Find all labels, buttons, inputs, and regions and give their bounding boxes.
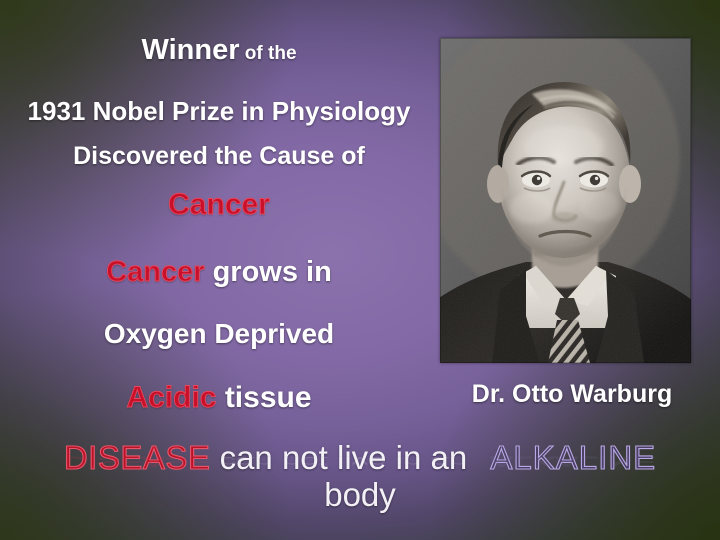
- photo-caption: Dr. Otto Warburg: [438, 380, 706, 409]
- line-cancer-grows: Cancer grows in: [0, 258, 438, 287]
- winner-word: Winner: [141, 34, 239, 66]
- cancer-word-2: Cancer: [106, 256, 204, 288]
- can-not-live-text: can not live in an: [210, 439, 476, 476]
- line-cancer-heading: Cancer: [0, 190, 438, 220]
- bottom-statement: DISEASE can not live in an ALKALINE DISE…: [0, 440, 720, 514]
- disease-word: DISEASE: [64, 439, 211, 476]
- tissue-text: tissue: [216, 381, 311, 414]
- line-discovered-cause: Discovered the Cause of: [0, 144, 438, 169]
- bottom-line-two: body: [0, 476, 720, 514]
- slide-canvas: Dr. Otto Warburg Winner of the 1931 Nobe…: [0, 0, 720, 540]
- alkaline-word: ALKALINE: [490, 439, 656, 476]
- line-oxygen-deprived: Oxygen Deprived: [0, 320, 438, 348]
- line-winner: Winner of the: [0, 36, 438, 65]
- cancer-word-1: Cancer: [168, 188, 270, 221]
- acidic-word: Acidic: [126, 381, 216, 414]
- line-nobel-prize: 1931 Nobel Prize in Physiology: [0, 98, 438, 124]
- grows-in-text: grows in: [205, 256, 332, 288]
- portrait-photo: [440, 38, 691, 363]
- line-acidic-tissue: Acidic tissue: [0, 383, 438, 413]
- text-block: Winner of the 1931 Nobel Prize in Physio…: [0, 0, 438, 430]
- bottom-line-one: DISEASE can not live in an ALKALINE DISE…: [0, 440, 720, 476]
- of-the-text: of the: [240, 43, 297, 64]
